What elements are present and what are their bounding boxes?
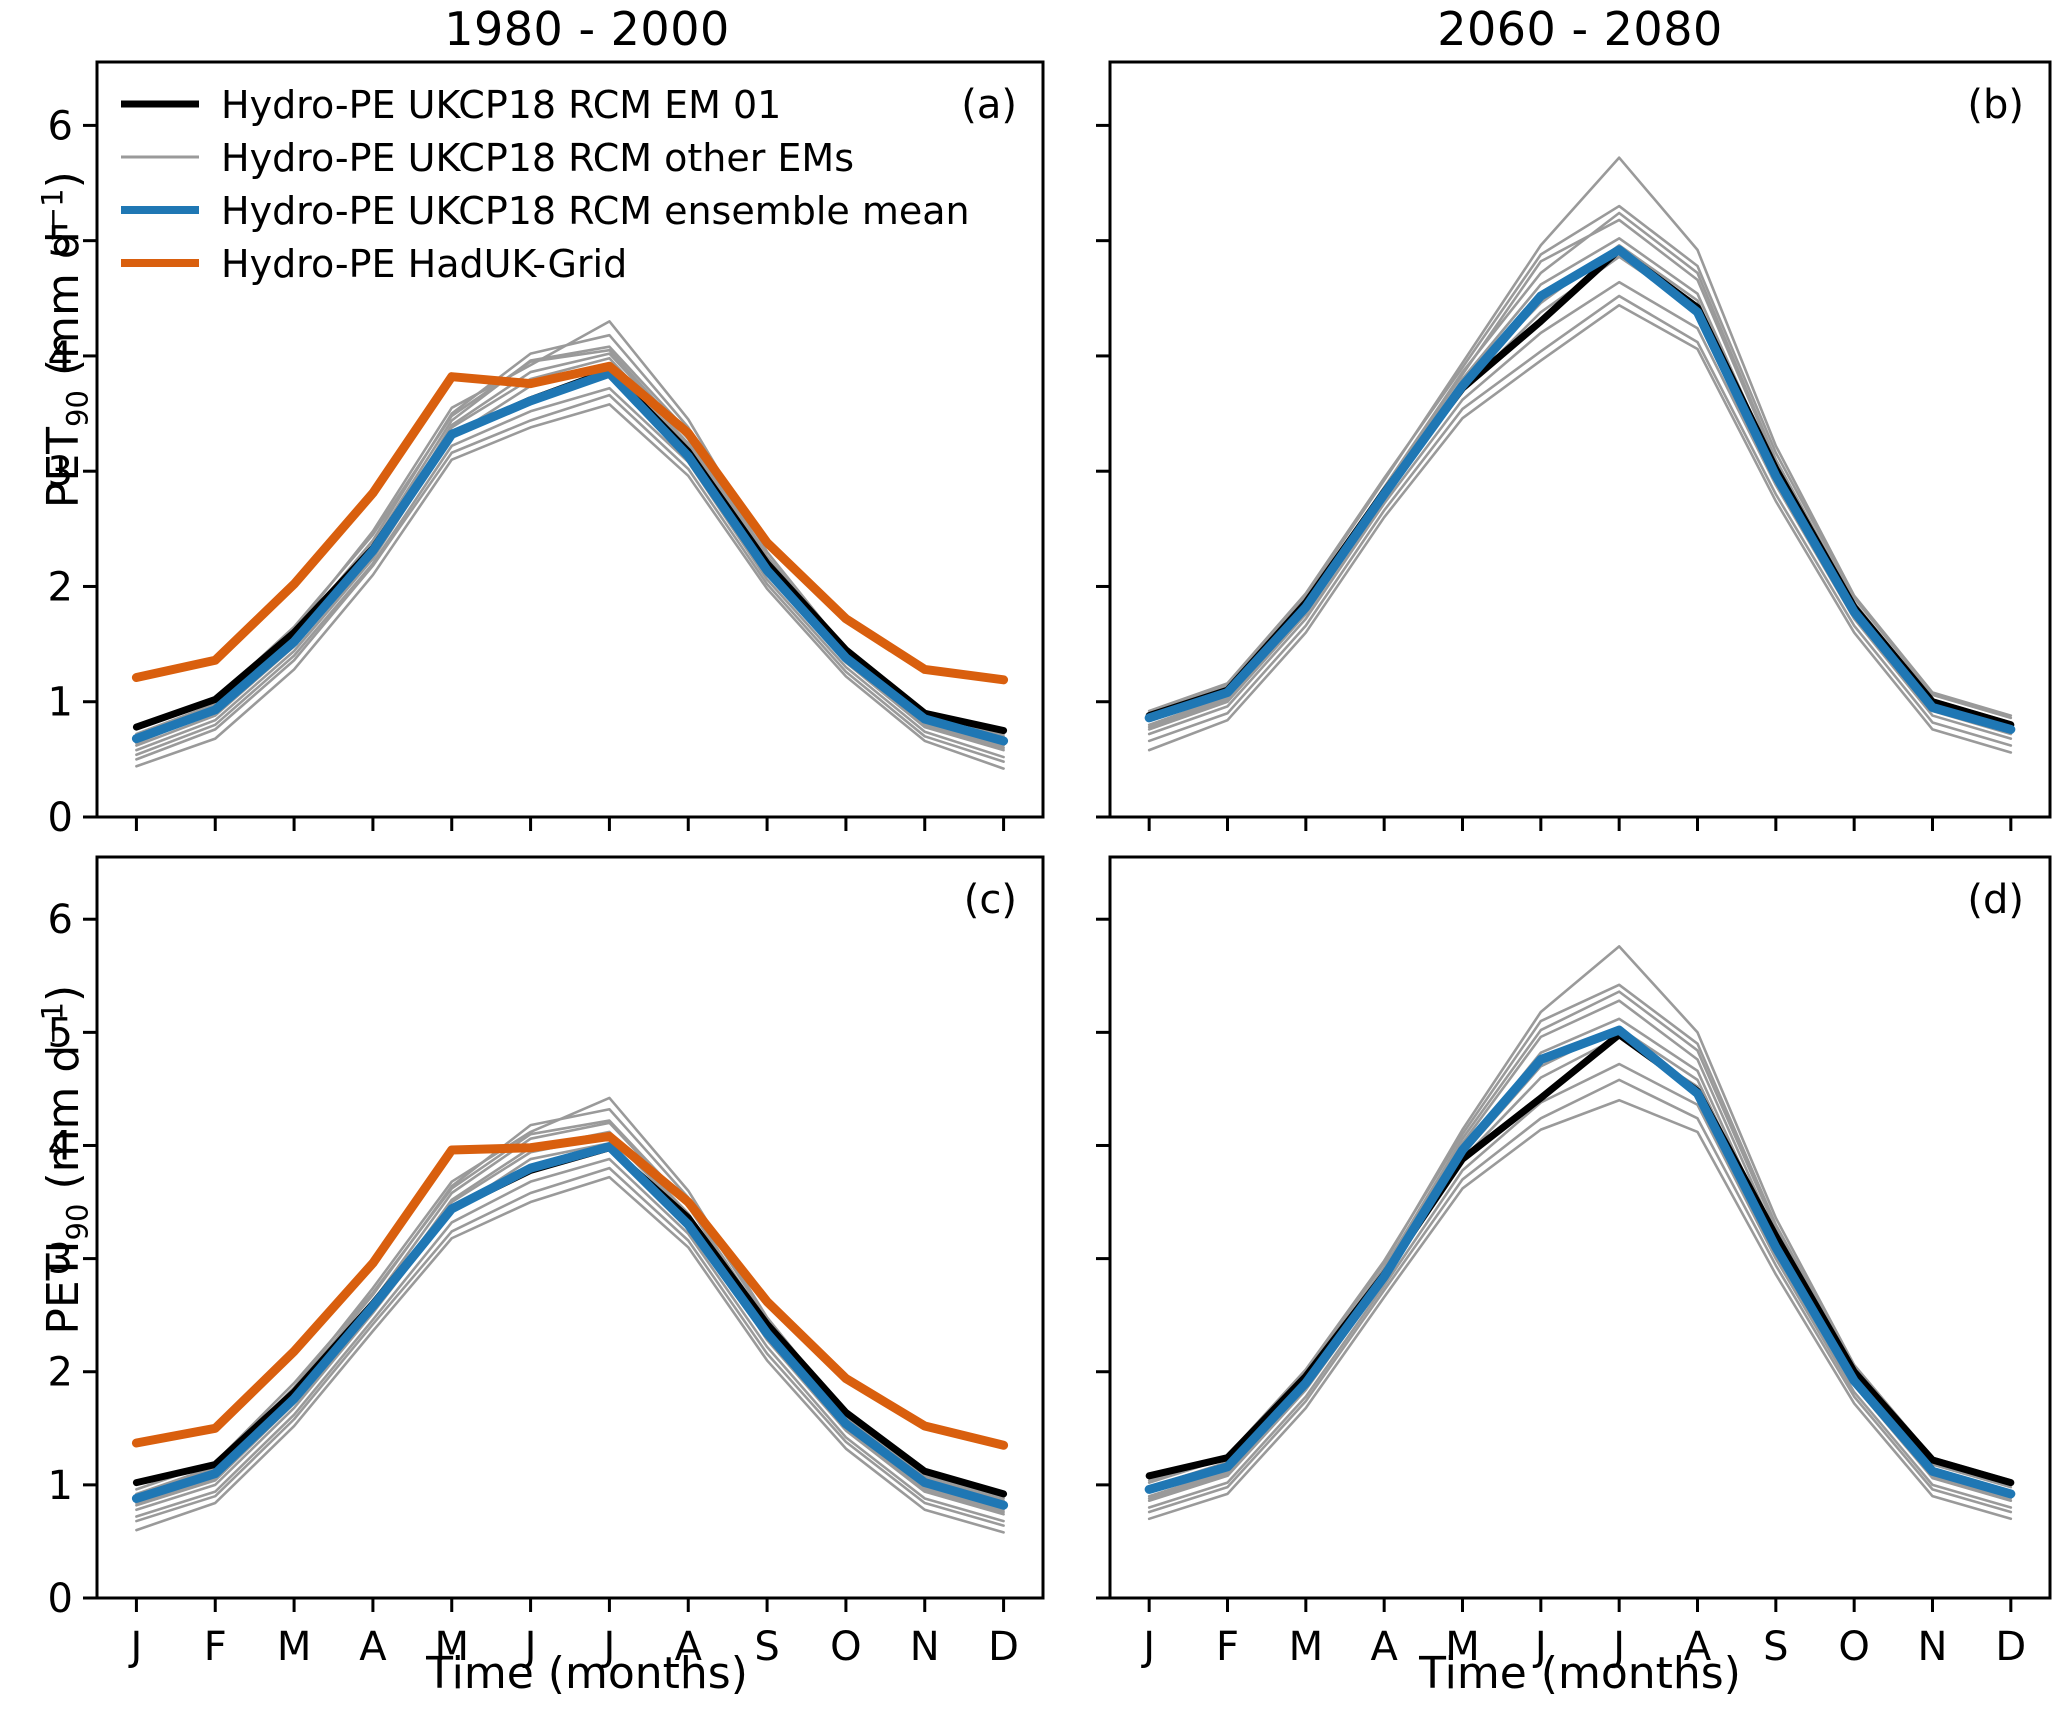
x-tick-label-d-11: D bbox=[1995, 1624, 2026, 1670]
panel-d: JFMAMJJASOND(d) bbox=[1096, 857, 2050, 1670]
x-tick-label-d-10: N bbox=[1918, 1624, 1948, 1670]
y-tick-label-a-5: 5 bbox=[48, 219, 73, 265]
series-line-b-other_ems-7 bbox=[1149, 305, 2011, 752]
x-tick-label-c-10: N bbox=[910, 1624, 940, 1670]
legend-label-1: Hydro-PE UKCP18 RCM other EMs bbox=[221, 136, 854, 180]
series-line-c-haduk_grid-12 bbox=[136, 1136, 1003, 1445]
x-tick-label-d-7: A bbox=[1684, 1624, 1712, 1670]
x-tick-label-d-5: J bbox=[1532, 1624, 1547, 1670]
series-line-c-other_ems-5 bbox=[136, 1159, 1003, 1521]
y-tick-label-a-1: 1 bbox=[48, 680, 73, 726]
panel-b: (b) bbox=[1096, 62, 2050, 831]
x-tick-label-d-6: J bbox=[1610, 1624, 1625, 1670]
legend-label-2: Hydro-PE UKCP18 RCM ensemble mean bbox=[221, 189, 970, 233]
series-line-d-other_ems-6 bbox=[1149, 1080, 2011, 1512]
y-tick-label-a-6: 6 bbox=[48, 103, 73, 149]
panel-frame-b bbox=[1110, 62, 2050, 817]
series-line-c-other_ems-7 bbox=[136, 1177, 1003, 1532]
x-tick-label-d-3: A bbox=[1370, 1624, 1398, 1670]
plot-canvas: 0123456(a)(b)0123456JFMAMJJASOND(c)JFMAM… bbox=[0, 0, 2067, 1727]
x-tick-label-c-4: M bbox=[434, 1624, 469, 1670]
x-tick-label-c-0: J bbox=[128, 1624, 143, 1670]
legend-label-3: Hydro-PE HadUK-Grid bbox=[221, 242, 627, 286]
series-line-c-other_ems-9 bbox=[136, 1136, 1003, 1512]
series-line-a-other_ems-5 bbox=[136, 388, 1003, 757]
series-line-a-haduk_grid-12 bbox=[136, 366, 1003, 680]
x-tick-label-d-8: S bbox=[1763, 1624, 1788, 1670]
series-line-c-other_ems-6 bbox=[136, 1168, 1003, 1525]
x-tick-label-d-2: M bbox=[1289, 1624, 1324, 1670]
x-tick-label-c-3: A bbox=[359, 1624, 387, 1670]
y-tick-label-a-3: 3 bbox=[48, 449, 73, 495]
series-line-d-other_ems-7 bbox=[1149, 1100, 2011, 1519]
series-line-b-other_ems-6 bbox=[1149, 296, 2011, 746]
y-tick-label-a-0: 0 bbox=[48, 795, 73, 841]
y-tick-label-c-0: 0 bbox=[48, 1576, 73, 1622]
x-tick-label-c-9: O bbox=[830, 1624, 861, 1670]
x-tick-label-c-8: S bbox=[754, 1624, 779, 1670]
series-line-c-other_ems-8 bbox=[136, 1109, 1003, 1496]
y-tick-label-c-4: 4 bbox=[48, 1123, 73, 1169]
x-tick-label-c-1: F bbox=[204, 1624, 227, 1670]
y-tick-label-c-1: 1 bbox=[48, 1463, 73, 1509]
series-line-b-other_ems-5 bbox=[1149, 282, 2011, 738]
x-tick-label-c-11: D bbox=[988, 1624, 1019, 1670]
x-tick-label-c-6: J bbox=[601, 1624, 616, 1670]
series-line-d-other_ems-5 bbox=[1149, 1064, 2011, 1507]
legend: Hydro-PE UKCP18 RCM EM 01Hydro-PE UKCP18… bbox=[121, 83, 970, 286]
y-tick-label-c-2: 2 bbox=[48, 1350, 73, 1396]
panel-tag-c: (c) bbox=[964, 877, 1017, 923]
panel-c: 0123456JFMAMJJASOND(c) bbox=[48, 857, 1043, 1670]
y-tick-label-a-4: 4 bbox=[48, 334, 73, 380]
figure-root: 1980 - 2000 2060 - 2080 PET90 (mm d−1) P… bbox=[0, 0, 2067, 1727]
y-tick-label-c-6: 6 bbox=[48, 897, 73, 943]
x-tick-label-c-2: M bbox=[277, 1624, 312, 1670]
series-line-a-other_ems-6 bbox=[136, 395, 1003, 762]
y-tick-label-a-2: 2 bbox=[48, 564, 73, 610]
panel-frame-d bbox=[1110, 857, 2050, 1598]
panel-tag-b: (b) bbox=[1967, 82, 2024, 128]
x-tick-label-d-9: O bbox=[1838, 1624, 1869, 1670]
y-tick-label-c-3: 3 bbox=[48, 1237, 73, 1283]
x-tick-label-c-7: A bbox=[675, 1624, 703, 1670]
series-line-a-other_ems-7 bbox=[136, 404, 1003, 768]
panel-tag-a: (a) bbox=[961, 82, 1017, 128]
x-tick-label-d-0: J bbox=[1140, 1624, 1155, 1670]
y-tick-label-c-5: 5 bbox=[48, 1010, 73, 1056]
x-tick-label-d-4: M bbox=[1445, 1624, 1480, 1670]
x-tick-label-c-5: J bbox=[522, 1624, 537, 1670]
x-tick-label-d-1: F bbox=[1216, 1624, 1239, 1670]
legend-label-0: Hydro-PE UKCP18 RCM EM 01 bbox=[221, 83, 781, 127]
panel-tag-d: (d) bbox=[1967, 877, 2024, 923]
panel-frame-c bbox=[97, 857, 1043, 1598]
